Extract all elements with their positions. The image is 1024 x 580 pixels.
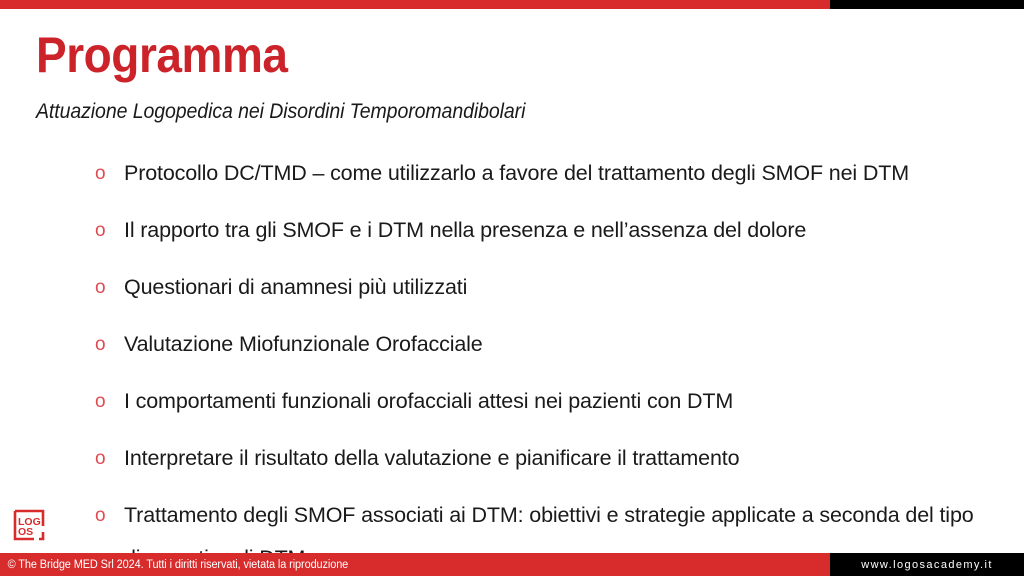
page-title: Programma xyxy=(36,30,919,80)
slide-canvas: Programma Attuazione Logopedica nei Diso… xyxy=(0,0,1024,576)
bullet-circle-icon: o xyxy=(95,209,108,252)
list-item: o I comportamenti funzionali orofacciali… xyxy=(90,380,998,423)
list-item: o Questionari di anamnesi più utilizzati xyxy=(90,266,998,309)
page-subtitle: Attuazione Logopedica nei Disordini Temp… xyxy=(36,100,929,124)
bullet-circle-icon: o xyxy=(95,323,108,366)
logos-brand-logo-icon: LOG OS xyxy=(12,508,48,542)
list-item-label: Il rapporto tra gli SMOF e i DTM nella p… xyxy=(124,209,998,252)
agenda-list: o Protocollo DC/TMD – come utilizzarlo a… xyxy=(90,152,998,580)
footer-website-link[interactable]: www.logosacademy.it xyxy=(861,559,993,571)
bullet-circle-icon: o xyxy=(95,266,108,309)
bullet-circle-icon: o xyxy=(95,494,108,537)
bullet-circle-icon: o xyxy=(95,152,108,195)
list-item-label: Questionari di anamnesi più utilizzati xyxy=(124,266,998,309)
list-item-label: I comportamenti funzionali orofacciali a… xyxy=(124,380,998,423)
list-item: o Valutazione Miofunzionale Orofacciale xyxy=(90,323,998,366)
list-item-label: Protocollo DC/TMD – come utilizzarlo a f… xyxy=(124,152,998,195)
list-item-label: Valutazione Miofunzionale Orofacciale xyxy=(124,323,998,366)
list-item: o Interpretare il risultato della valuta… xyxy=(90,437,998,480)
heading-block: Programma Attuazione Logopedica nei Diso… xyxy=(36,30,996,124)
bullet-circle-icon: o xyxy=(95,437,108,480)
logo-line-2: OS xyxy=(18,526,33,538)
top-accent-bar-red-segment xyxy=(0,0,830,9)
footer-bar: © The Bridge MED Srl 2024. Tutti i dirit… xyxy=(0,553,1024,576)
footer-left-segment: © The Bridge MED Srl 2024. Tutti i dirit… xyxy=(0,553,830,576)
list-item: o Protocollo DC/TMD – come utilizzarlo a… xyxy=(90,152,998,195)
footer-right-segment: www.logosacademy.it xyxy=(830,553,1024,576)
top-accent-bar-black-segment xyxy=(830,0,1024,9)
bullet-circle-icon: o xyxy=(95,380,108,423)
list-item-label: Interpretare il risultato della valutazi… xyxy=(124,437,998,480)
top-accent-bar xyxy=(0,0,1024,9)
footer-copyright-text: © The Bridge MED Srl 2024. Tutti i dirit… xyxy=(0,559,348,571)
list-item: o Il rapporto tra gli SMOF e i DTM nella… xyxy=(90,209,998,252)
